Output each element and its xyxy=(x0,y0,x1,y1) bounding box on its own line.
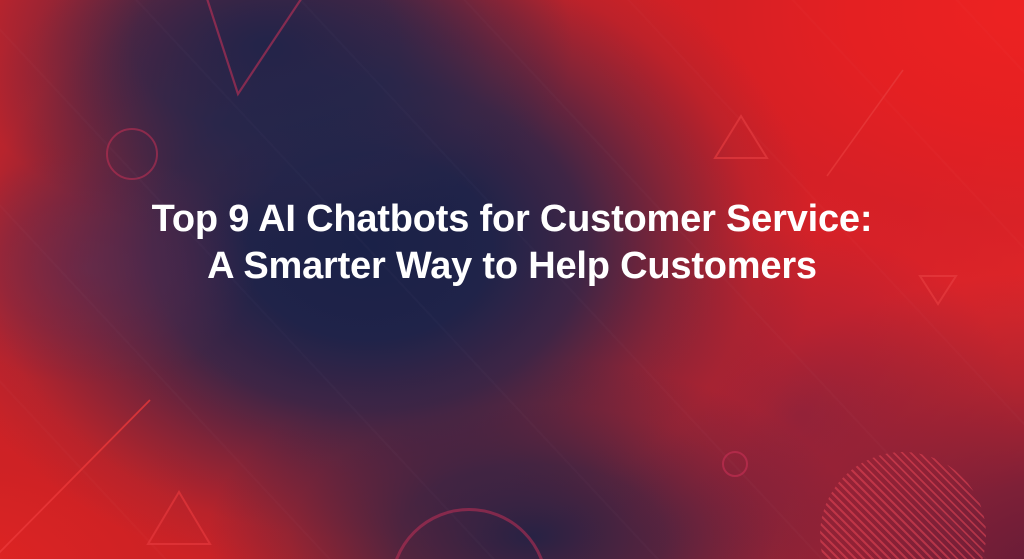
page-title: Top 9 AI Chatbots for Customer Service: … xyxy=(150,196,874,290)
circle-outline-upper-left-icon xyxy=(106,128,158,180)
triangle-up-top-right-icon xyxy=(713,113,769,161)
diagonal-line-top-right-icon xyxy=(825,68,905,178)
small-circle-outline-icon xyxy=(722,451,748,477)
triangle-up-bottom-left-icon xyxy=(145,489,213,547)
banner-canvas: Top 9 AI Chatbots for Customer Service: … xyxy=(0,0,1024,559)
diagonal-line-bottom-left-icon xyxy=(0,398,160,559)
circle-outline-bottom-center-icon xyxy=(390,508,548,559)
striped-circle-icon xyxy=(820,452,986,559)
banner-title-block: Top 9 AI Chatbots for Customer Service: … xyxy=(0,196,1024,290)
wedge-outline-icon xyxy=(196,0,346,98)
